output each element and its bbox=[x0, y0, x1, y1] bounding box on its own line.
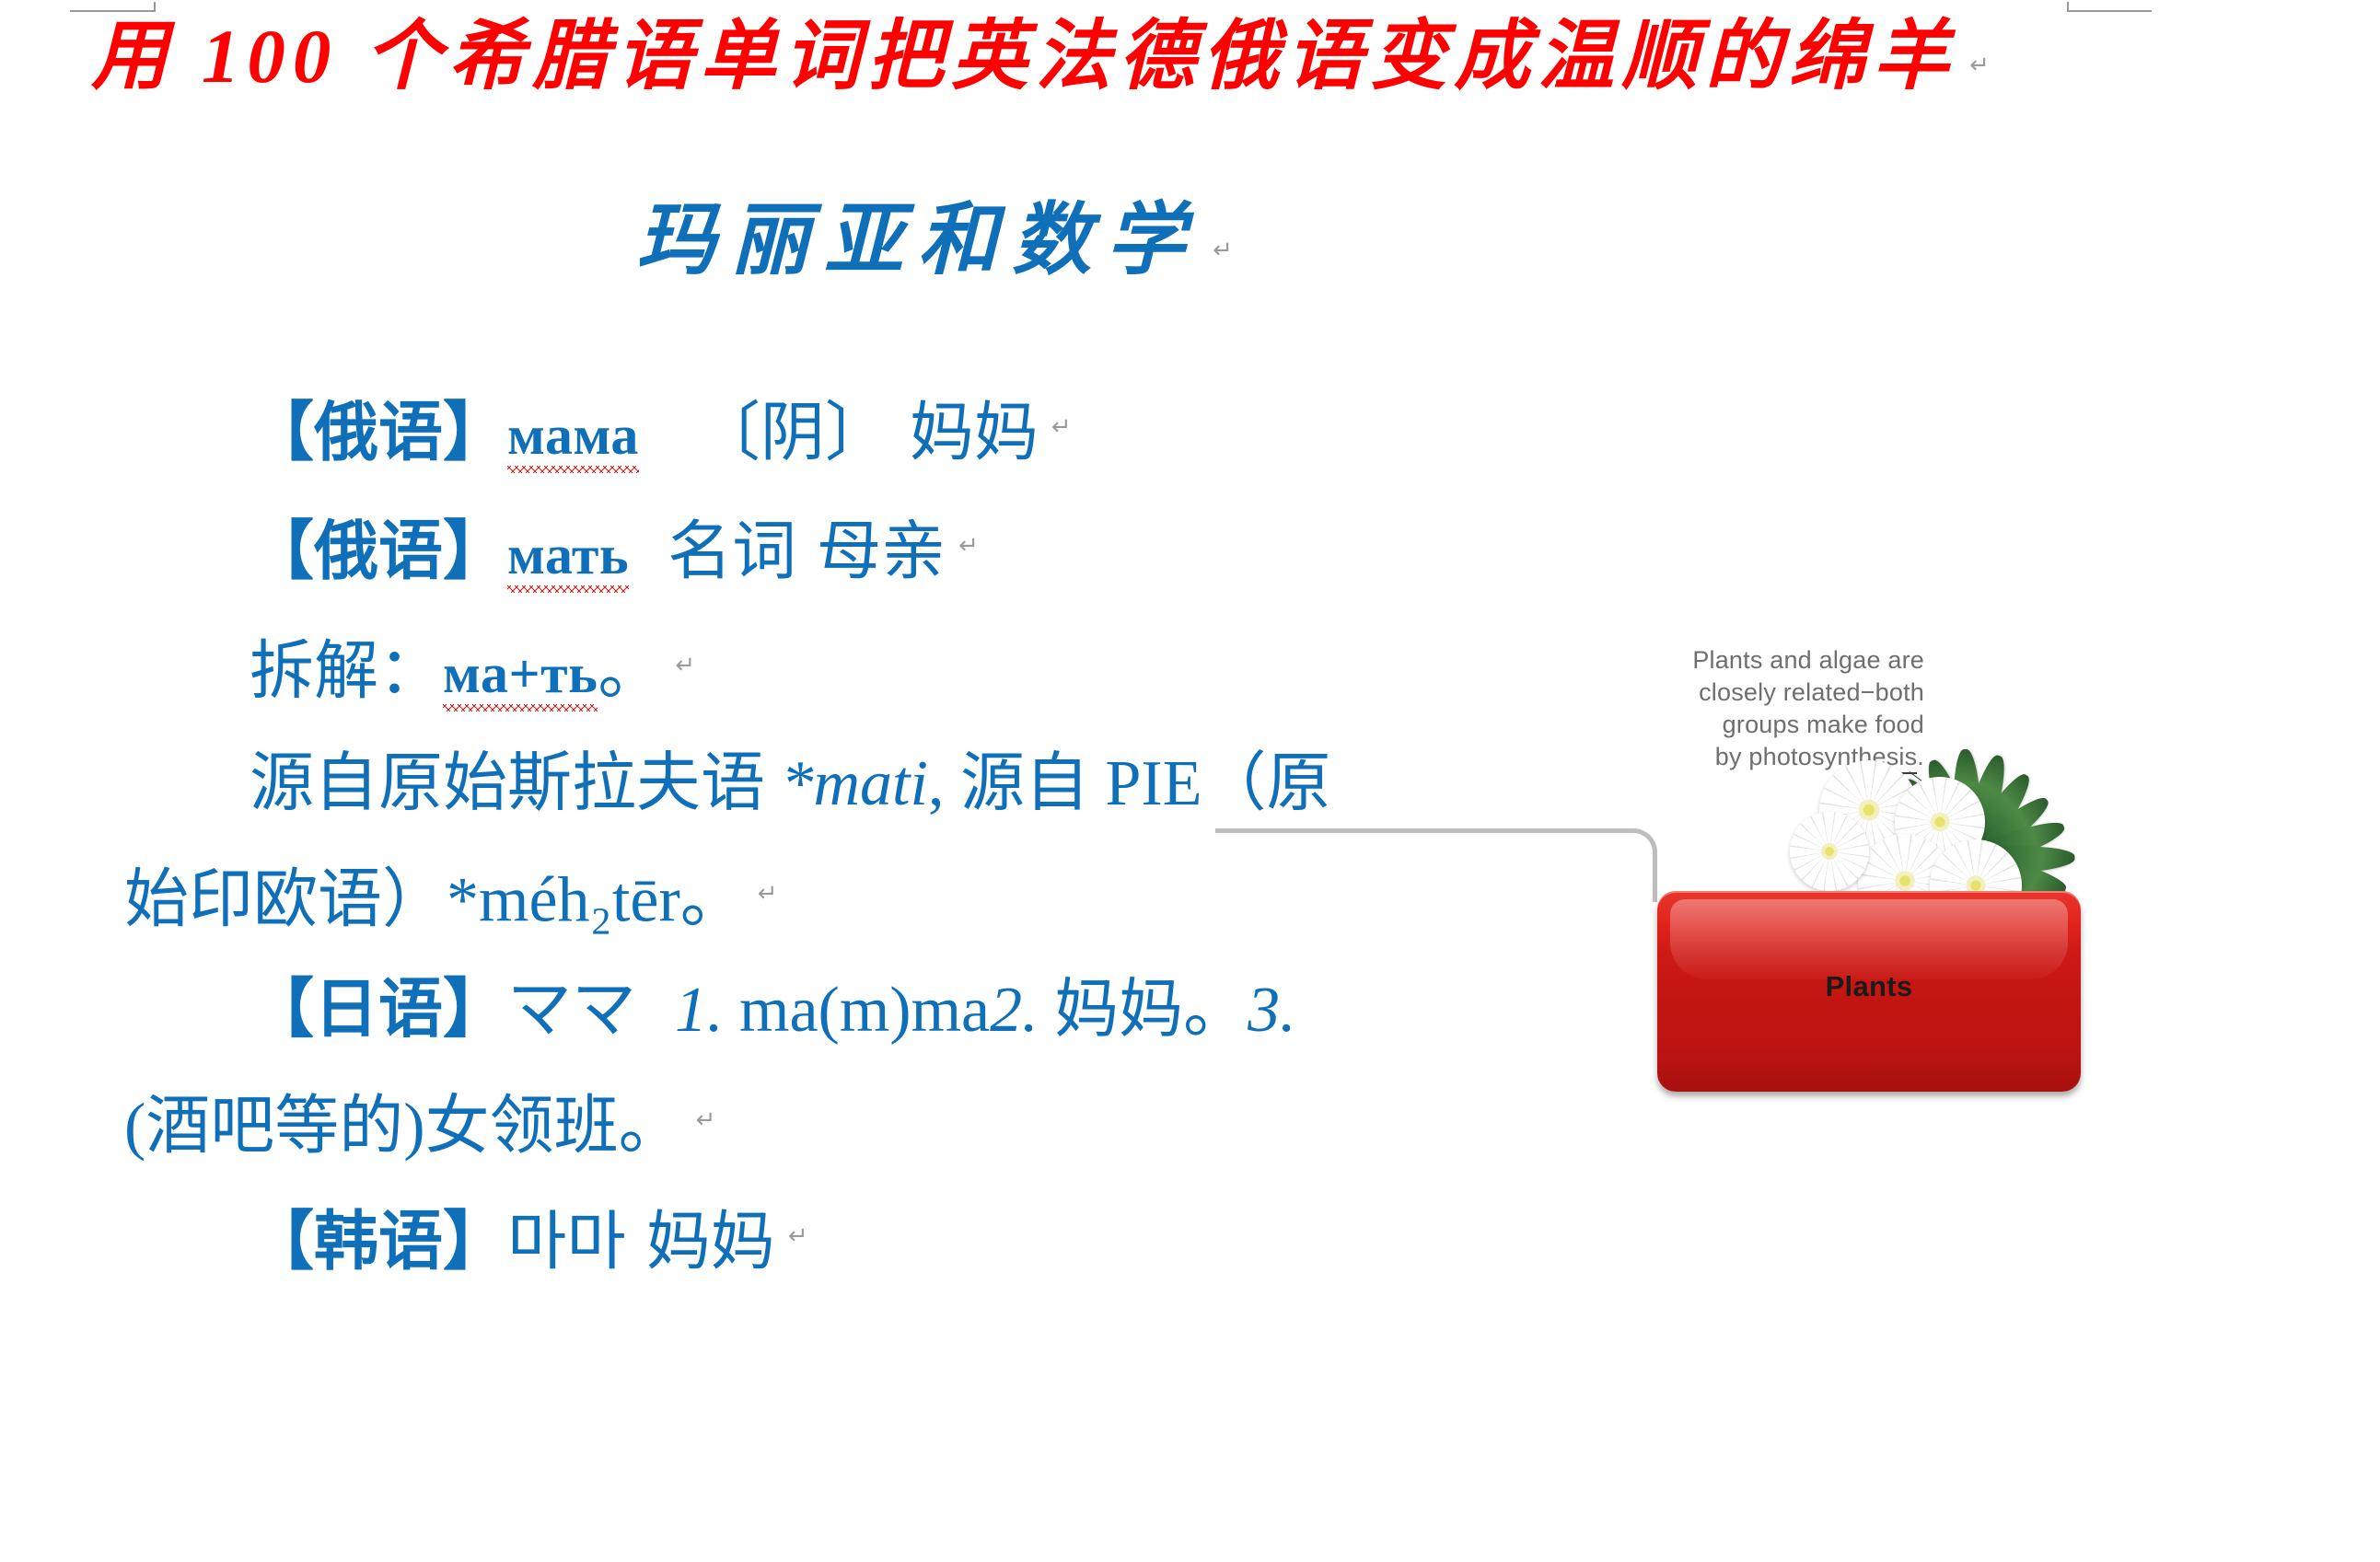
title-blue-text: 玛丽亚和数学 bbox=[636, 196, 1200, 284]
leaf-icon bbox=[1868, 820, 1979, 874]
paragraph-mark-icon: ↵ bbox=[683, 1105, 716, 1133]
figure-caption-line: Plants and algae are bbox=[1602, 644, 1924, 677]
etymology-text: , 源自 PIE（原 bbox=[928, 748, 1331, 819]
language-tag: 【韩语】 bbox=[250, 1207, 507, 1278]
document-title-red: 用 100 个希腊语单词把英法德俄语变成温顺的绵羊↵ bbox=[0, 9, 2081, 105]
caption-leader-line bbox=[1910, 771, 1998, 839]
leaf-icon bbox=[1881, 796, 1980, 874]
diagram-connector-line bbox=[1215, 828, 1657, 902]
entry-breakdown: 拆解：ма+ть。↵ bbox=[124, 610, 1616, 729]
leaf-icon bbox=[1960, 844, 2075, 874]
part-of-speech: 名词 bbox=[668, 517, 796, 588]
entry-korean-mama: 【韩语】마마妈妈↵ bbox=[124, 1181, 1616, 1297]
sense-number: 3. bbox=[1248, 975, 1296, 1046]
figure-caption-line: closely related−both bbox=[1602, 677, 1924, 709]
gloss: 妈妈 bbox=[646, 1207, 775, 1278]
gloss: 母亲 bbox=[817, 517, 946, 588]
leaf-icon bbox=[1897, 773, 1983, 874]
headword-cyrillic: мама bbox=[507, 405, 639, 473]
figure-caption-line: by photosynthesis. bbox=[1602, 741, 1924, 773]
sense-gloss: (酒吧等的)女领班。 bbox=[124, 1091, 683, 1162]
entry-russian-mat: 【俄语】мать名词母亲↵ bbox=[124, 491, 1616, 609]
plants-box-label: Plants bbox=[1657, 970, 2081, 1003]
sense-romaji: ma(m)ma bbox=[724, 975, 991, 1046]
etymology-text: 源自原始斯拉夫语 bbox=[250, 748, 782, 819]
title-red-text: 用 100 个希腊语单词把英法德俄语变成温顺的绵羊 bbox=[91, 14, 1956, 98]
sense-number: 2. bbox=[990, 975, 1039, 1046]
gloss: 妈妈 bbox=[910, 398, 1039, 469]
sense-gloss: 妈妈。 bbox=[1039, 975, 1248, 1046]
paragraph-mark-icon: ↵ bbox=[1039, 412, 1072, 440]
sense-number: 1. bbox=[675, 975, 724, 1046]
paragraph-mark-icon: ↵ bbox=[662, 651, 695, 678]
document-page: 用 100 个希腊语单词把英法德俄语变成温顺的绵羊↵ 玛丽亚和数学↵ 【俄语】м… bbox=[0, 0, 2380, 1562]
figure-caption-line: groups make food bbox=[1602, 709, 1924, 741]
entry-japanese-mama-cont: (酒吧等的)女领班。↵ bbox=[124, 1065, 1616, 1181]
gender-marker: 〔阴〕 bbox=[696, 398, 889, 469]
etymology-pie-form: *méh₂tēr bbox=[447, 865, 680, 936]
breakdown-value: ма+ть bbox=[443, 643, 598, 712]
box-gloss-highlight bbox=[1670, 899, 2068, 979]
headword-hangul: 마마 bbox=[507, 1207, 626, 1278]
flower-icon bbox=[1819, 760, 1919, 860]
etymology-text: 。 bbox=[680, 865, 745, 936]
plants-box: Plants bbox=[1657, 891, 2081, 1092]
leaf-icon bbox=[1956, 791, 2054, 875]
figure-caption: Plants and algae are closely related−bot… bbox=[1602, 644, 1924, 773]
plants-figure: Plants and algae are closely related−bot… bbox=[1602, 644, 2228, 1215]
headword-katakana: ママ bbox=[507, 975, 636, 1046]
leaf-icon bbox=[1951, 749, 1982, 870]
breakdown-label: 拆解： bbox=[250, 636, 443, 707]
leaf-icon bbox=[1954, 769, 2037, 874]
paragraph-mark-icon: ↵ bbox=[1956, 51, 1990, 78]
etymology-text: 始印欧语） bbox=[124, 865, 447, 936]
leaf-icon bbox=[1957, 815, 2068, 875]
leaf-icon bbox=[1921, 756, 1984, 872]
paragraph-mark-icon: ↵ bbox=[946, 531, 979, 559]
language-tag: 【日语】 bbox=[250, 975, 507, 1046]
paragraph-mark-icon: ↵ bbox=[775, 1221, 808, 1249]
language-tag: 【俄语】 bbox=[250, 517, 507, 588]
language-tag: 【俄语】 bbox=[250, 398, 507, 469]
breakdown-terminator: 。 bbox=[598, 636, 662, 707]
entry-russian-mama: 【俄语】мама〔阴〕妈妈↵ bbox=[124, 372, 1616, 491]
leaf-icon bbox=[1862, 847, 1977, 877]
flower-icon bbox=[1895, 777, 1985, 867]
entry-etymology-line1: 源自原始斯拉夫语 *mati, 源自 PIE（原 bbox=[124, 729, 1616, 839]
paragraph-mark-icon: ↵ bbox=[745, 879, 778, 907]
headword-cyrillic: мать bbox=[507, 525, 629, 593]
flower-icon bbox=[1790, 812, 1869, 891]
entry-japanese-mama: 【日语】ママ1. ma(m)ma2. 妈妈。3. bbox=[124, 955, 1616, 1065]
etymology-protoform: *mati bbox=[782, 748, 928, 819]
document-title-blue: 玛丽亚和数学↵ bbox=[0, 191, 1869, 291]
paragraph-mark-icon: ↵ bbox=[1200, 236, 1233, 263]
